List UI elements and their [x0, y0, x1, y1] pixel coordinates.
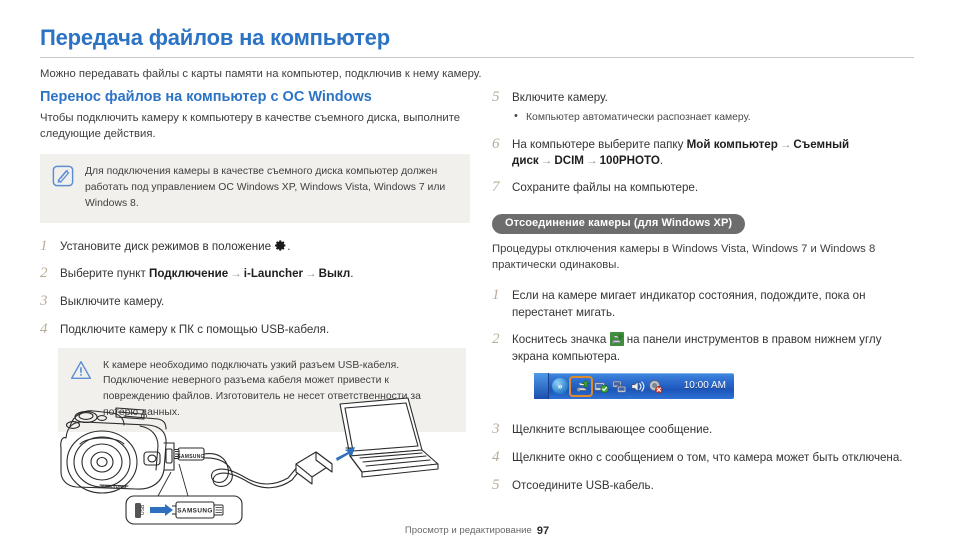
step-text: Выключите камеру. — [60, 292, 470, 310]
step-text: Сохраните файлы на компьютере. — [512, 178, 920, 196]
step-text: Подключите камеру к ПК с помощью USB-каб… — [60, 320, 470, 338]
step-1: 1 Установите диск режимов в положение . — [40, 237, 470, 256]
step-number: 2 — [40, 264, 60, 283]
step-main-text: Включите камеру. — [512, 91, 608, 104]
step-text: На компьютере выберите папку Мой компьют… — [512, 135, 920, 170]
disconnect-step-4: 4 Щелкните окно с сообщением о том, что … — [492, 448, 920, 467]
volume-icon[interactable] — [630, 379, 645, 394]
step-text-before: Выберите пункт — [60, 267, 149, 280]
arrow-icon: → — [303, 267, 319, 280]
disconnect-step-1: 1 Если на камере мигает индикатор состоя… — [492, 286, 920, 321]
section-heading-windows: Перенос файлов на компьютер с ОС Windows — [40, 88, 470, 106]
steps-list-disconnect: 1 Если на камере мигает индикатор состоя… — [492, 286, 920, 494]
badge-wrapper: Отсоединение камеры (для Windows XP) — [492, 213, 920, 234]
warning-triangle-icon — [70, 359, 92, 381]
arrow-icon: → — [539, 154, 555, 167]
step-text: Установите диск режимов в положение . — [60, 237, 470, 255]
step-text: Щелкните всплывающее сообщение. — [512, 420, 920, 438]
steps-list-continued: 5 Включите камеру. Компьютер автоматичес… — [492, 88, 920, 197]
step-3: 3 Выключите камеру. — [40, 292, 470, 311]
step-number: 3 — [40, 292, 60, 311]
disconnect-step-2: 2 Коснитесь значка на панели инструменто… — [492, 330, 920, 411]
steps-list-windows: 1 Установите диск режимов в положение . … — [40, 237, 470, 339]
step-text: Если на камере мигает индикатор состояни… — [512, 286, 920, 321]
connector-brand-label: SAMSUNG — [177, 508, 212, 515]
sub-bullet-list: Компьютер автоматически распознает камер… — [512, 110, 920, 125]
step-number: 4 — [492, 448, 512, 467]
taskbar: » — [534, 373, 734, 399]
arrow-icon: → — [228, 267, 244, 280]
step-text-before: Установите диск режимов в положение — [60, 240, 274, 253]
step-number: 1 — [492, 286, 512, 305]
arrow-icon: → — [778, 138, 794, 151]
arrow-icon: → — [584, 154, 600, 167]
note-text: Для подключения камеры в качестве съемно… — [85, 164, 458, 211]
network-icon[interactable] — [612, 379, 627, 394]
step-number: 2 — [492, 330, 512, 349]
step-text: Выберите пункт Подключение→i-Launcher→Вы… — [60, 264, 470, 282]
step-number: 1 — [40, 237, 60, 256]
sub-bullet: Компьютер автоматически распознает камер… — [512, 110, 920, 125]
step-text-after: . — [287, 240, 290, 253]
gear-icon — [274, 239, 287, 252]
step-text-before: Коснитесь значка — [512, 333, 610, 346]
status-badge: Отсоединение камеры (для Windows XP) — [492, 214, 745, 234]
note-pen-icon — [52, 165, 74, 187]
step-text: Отсоедините USB-кабель. — [512, 476, 920, 494]
taskbar-left-edge — [534, 373, 549, 399]
safely-remove-hardware-icon — [575, 379, 590, 394]
page-footer: Просмотр и редактирование97 — [0, 525, 954, 537]
step-7: 7 Сохраните файлы на компьютере. — [492, 178, 920, 197]
safely-remove-hardware-icon — [610, 332, 624, 346]
left-column: Перенос файлов на компьютер с ОС Windows… — [40, 88, 470, 432]
step-6: 6 На компьютере выберите папку Мой компь… — [492, 135, 920, 170]
page-subtitle: Можно передавать файлы с карты памяти на… — [40, 67, 914, 82]
camera-brand-label: SAMSUNG — [101, 484, 127, 489]
menu-path-item-3: Выкл — [319, 267, 351, 280]
svg-text:USB: USB — [140, 504, 146, 515]
step-text: Включите камеру. Компьютер автоматически… — [512, 88, 920, 126]
step-text-before: На компьютере выберите папку — [512, 138, 687, 151]
menu-path-item-2: i-Launcher — [244, 267, 303, 280]
footer-chapter-label: Просмотр и редактирование — [405, 525, 532, 536]
step-number: 5 — [492, 476, 512, 495]
step-number: 5 — [492, 88, 512, 107]
windows-xp-system-tray: » — [534, 373, 920, 399]
camera-connector-brand-label: SAMSUNG — [177, 454, 204, 460]
step-4: 4 Подключите камеру к ПК с помощью USB-к… — [40, 320, 470, 339]
camera-to-laptop-usb-diagram: USB SAMSUNG SAMSUNG SAMSUNG — [40, 386, 440, 526]
page-header: Передача файлов на компьютер Можно перед… — [40, 26, 914, 82]
folder-path-item-1: Мой компьютер — [687, 138, 778, 151]
folder-path-item-4: 100PHOTO — [600, 154, 660, 167]
note-callout: Для подключения камеры в качестве съемно… — [40, 154, 470, 222]
section-intro: Чтобы подключить камеру к компьютеру в к… — [40, 110, 470, 142]
step-number: 4 — [40, 320, 60, 339]
step-number: 7 — [492, 178, 512, 197]
step-2: 2 Выберите пункт Подключение→i-Launcher→… — [40, 264, 470, 283]
page-number: 97 — [537, 525, 549, 537]
step-text-after: . — [350, 267, 353, 280]
folder-path-item-3: DCIM — [554, 154, 584, 167]
right-column: 5 Включите камеру. Компьютер автоматичес… — [492, 88, 920, 504]
step-number: 6 — [492, 135, 512, 154]
page-title: Передача файлов на компьютер — [40, 26, 914, 50]
manual-page: Передача файлов на компьютер Можно перед… — [0, 0, 954, 557]
disconnect-step-3: 3 Щелкните всплывающее сообщение. — [492, 420, 920, 439]
title-divider — [40, 57, 914, 58]
chevron-expand-icon[interactable]: » — [552, 378, 568, 394]
step-text: Коснитесь значка на панели инструментов … — [512, 330, 920, 411]
step-text-after: . — [660, 154, 663, 167]
menu-path-item-1: Подключение — [149, 267, 228, 280]
disconnect-step-5: 5 Отсоедините USB-кабель. — [492, 476, 920, 495]
antivirus-icon[interactable] — [648, 379, 663, 394]
step-text: Щелкните окно с сообщением о том, что ка… — [512, 448, 920, 466]
badge-intro-text: Процедуры отключения камеры в Windows Vi… — [492, 241, 920, 273]
step-number: 3 — [492, 420, 512, 439]
security-shield-icon[interactable] — [594, 379, 609, 394]
system-clock[interactable]: 10:00 AM — [684, 379, 726, 393]
step-5: 5 Включите камеру. Компьютер автоматичес… — [492, 88, 920, 126]
safely-remove-hardware-tray-button[interactable] — [571, 378, 591, 395]
